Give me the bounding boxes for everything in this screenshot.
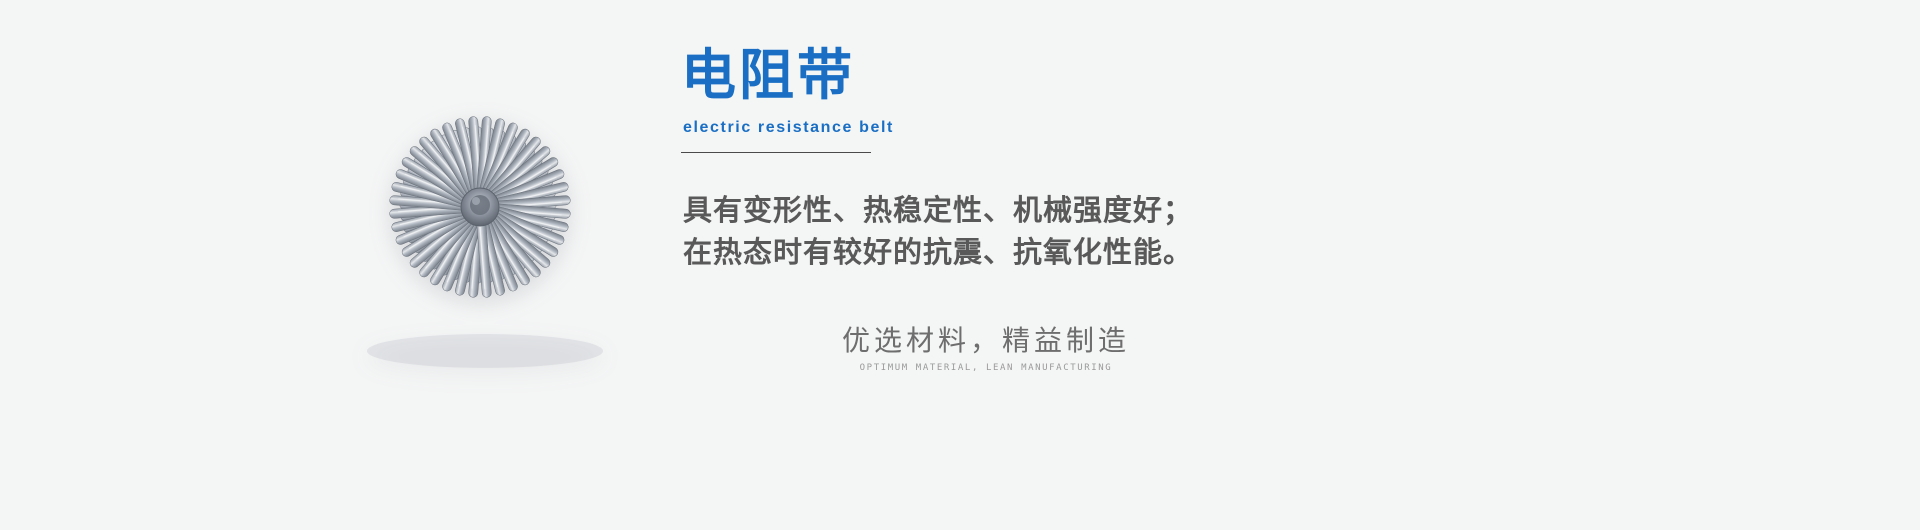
page-title: 电阻带 [681, 45, 855, 105]
slogan-zh: 优选材料，精益制造 [776, 322, 1196, 360]
slogan-en: OPTIMUM MATERIAL, LEAN MANUFACTURING [776, 362, 1196, 374]
description-line-1: 具有变形性、热稳定性、机械强度好； [683, 190, 1303, 232]
product-image [300, 55, 660, 375]
description-line-2: 在热态时有较好的抗震、抗氧化性能。 [683, 232, 1303, 274]
product-banner: 电阻带 electric resistance belt 具有变形性、热稳定性、… [0, 0, 1920, 530]
page-subtitle-en: electric resistance belt [683, 118, 894, 138]
title-divider [681, 152, 871, 153]
banner-content: 电阻带 electric resistance belt 具有变形性、热稳定性、… [681, 0, 1781, 530]
description-block: 具有变形性、热稳定性、机械强度好； 在热态时有较好的抗震、抗氧化性能。 [683, 190, 1303, 274]
slogan-block: 优选材料，精益制造 OPTIMUM MATERIAL, LEAN MANUFAC… [776, 322, 1196, 374]
resistance-belt-coil-illustration [300, 55, 660, 375]
